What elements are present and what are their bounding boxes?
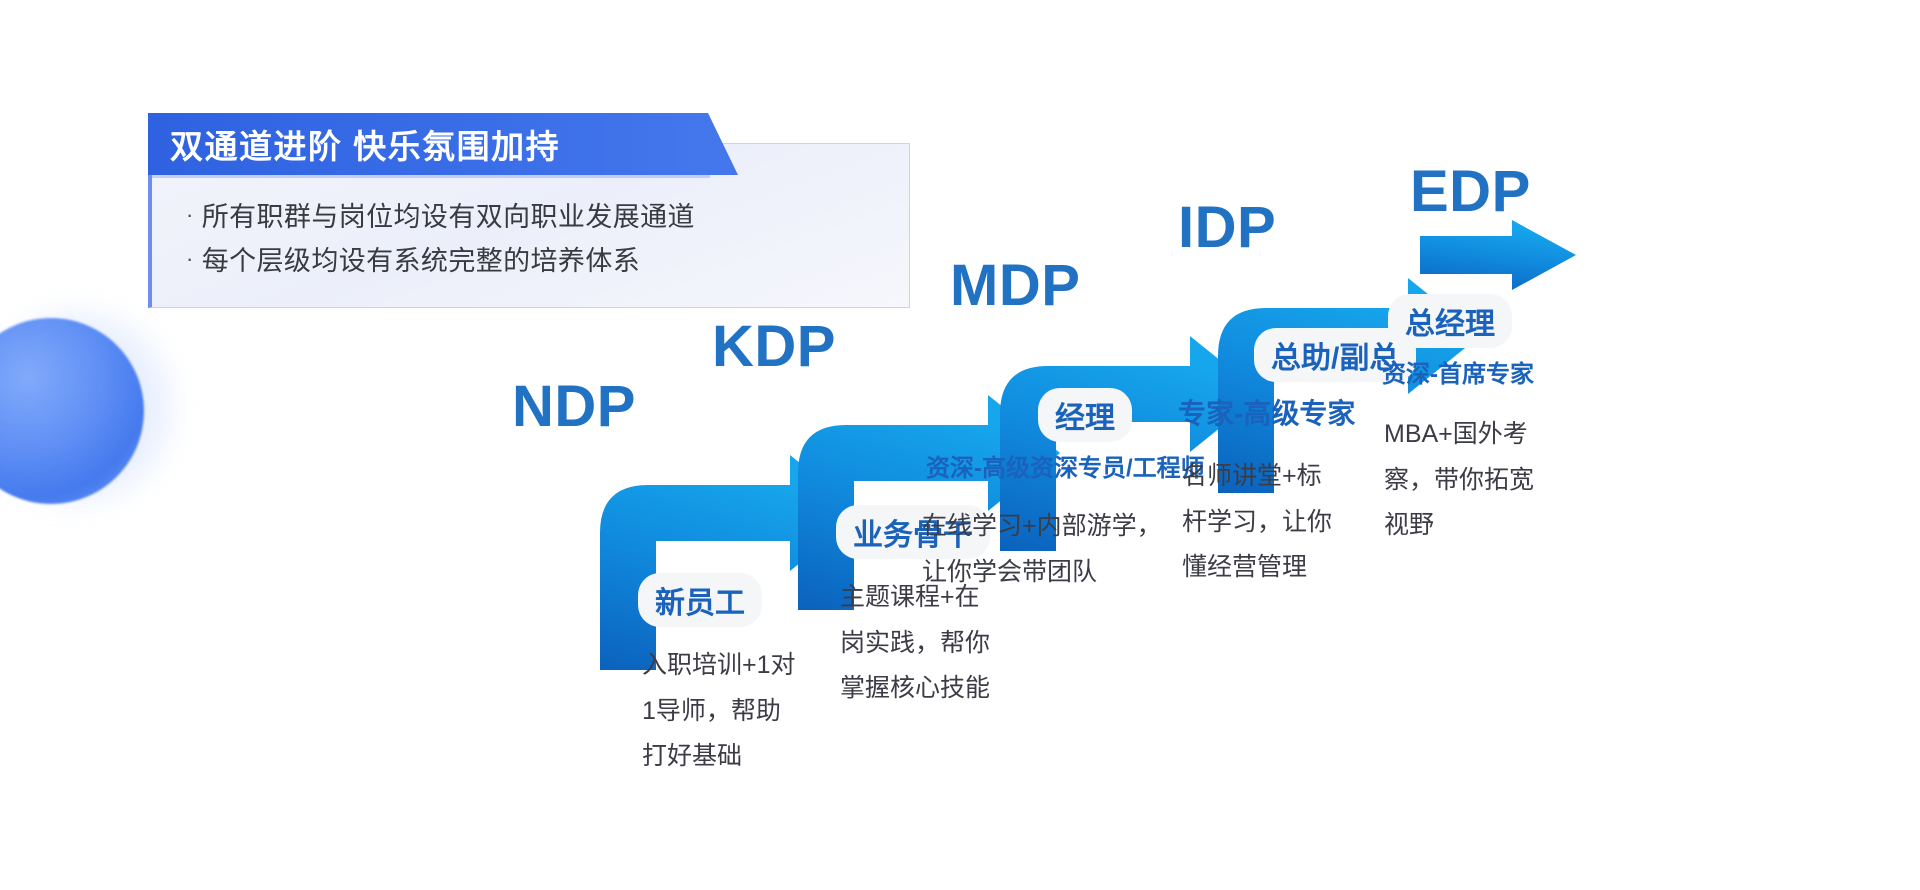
stage-mdp-role: 经理	[1038, 388, 1132, 442]
stage-ndp-code: NDP	[512, 373, 636, 440]
stage-ndp-role: 新员工	[638, 573, 762, 627]
bullet-marker-icon: ·	[186, 240, 194, 279]
stage-ndp-desc: 入职培训+1对 1导师，帮助 打好基础	[642, 643, 832, 780]
stage-edp-arrow-icon	[1420, 220, 1580, 290]
stage-idp-desc: 名师讲堂+标 杆学习，让你 懂经营管理	[1182, 454, 1377, 591]
bullet-marker-icon: ·	[186, 196, 194, 235]
callout-bullet-2-text: 每个层级均设有系统完整的培养体系	[202, 240, 640, 284]
stage-edp-code: EDP	[1410, 158, 1531, 225]
stage-mdp-code: MDP	[950, 252, 1080, 319]
stage-kdp-code: KDP	[712, 313, 836, 380]
slide-canvas: · 所有职群与岗位均设有双向职业发展通道 · 每个层级均设有系统完整的培养体系 …	[0, 0, 1920, 890]
stage-edp-role: 总经理	[1388, 294, 1512, 348]
stage-edp-desc: MBA+国外考 察，带你拓宽 视野	[1384, 412, 1569, 549]
stage-edp-role-sub: 资深-首席专家	[1382, 354, 1534, 389]
callout-bullet-2: · 每个层级均设有系统完整的培养体系	[186, 240, 909, 284]
stage-kdp-desc: 主题课程+在 岗实践，帮你 掌握核心技能	[840, 575, 1045, 712]
stage-idp-role-sub: 专家-高级专家	[1178, 392, 1355, 432]
ribbon-title-text: 双通道进阶 快乐氛围加持	[148, 120, 560, 168]
callout-bullet-1-text: 所有职群与岗位均设有双向职业发展通道	[202, 196, 695, 240]
stage-idp-code: IDP	[1178, 194, 1276, 261]
callout-ribbon-title: 双通道进阶 快乐氛围加持	[148, 113, 708, 175]
callout-bullet-1: · 所有职群与岗位均设有双向职业发展通道	[186, 196, 909, 240]
stage-mdp-role-sub: 资深-高级资深专员/工程师	[926, 448, 1205, 483]
stage-mdp-desc: 在线学习+内部游学， 让你学会带团队	[922, 504, 1202, 595]
